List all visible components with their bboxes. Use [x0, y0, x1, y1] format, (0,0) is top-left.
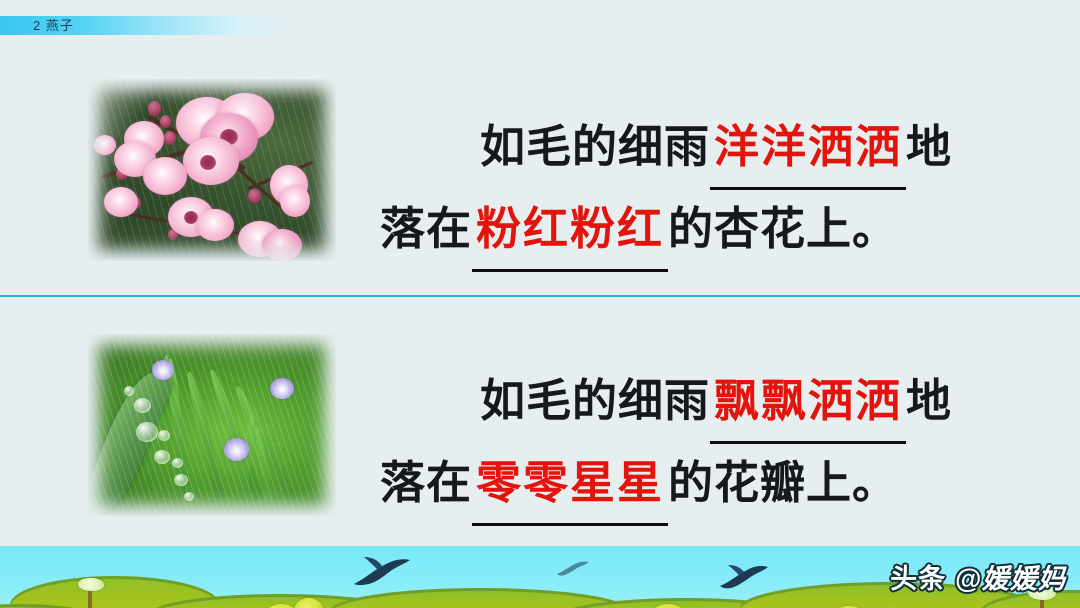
sentence-1-line-1-prefix: 如毛的细雨 — [480, 122, 710, 172]
sentence-1-line-2: 落在粉红粉红的杏花上。 — [380, 190, 1000, 272]
blossom — [104, 187, 138, 217]
sentence-2-line-2: 落在零零星星的花瓣上。 — [380, 444, 1000, 526]
answer-blank-3[interactable]: 飘飘洒洒 — [710, 362, 906, 444]
blossom — [196, 209, 234, 241]
sentence-1-line-1-suffix: 地 — [906, 122, 952, 172]
sentence-2-line-1: 如毛的细雨飘飘洒洒地 — [380, 362, 1000, 444]
watermark-handle: @媛媛妈 — [955, 564, 1066, 594]
sentence-2-line-2-prefix: 落在 — [380, 458, 472, 508]
sentence-2-line-1-prefix: 如毛的细雨 — [480, 376, 710, 426]
slide-canvas: 2 燕子 — [0, 0, 1080, 608]
blossom-center — [200, 155, 216, 170]
sentence-1-line-1: 如毛的细雨洋洋洒洒地 — [380, 108, 1000, 190]
photo-1-content — [88, 79, 336, 261]
watermark-prefix: 头条 — [890, 564, 955, 594]
flower-bud — [164, 131, 176, 145]
sentence-2-line-2-suffix: 的花瓣上。 — [668, 458, 898, 508]
photo-2-content — [88, 334, 336, 516]
sentence-2-line-1-suffix: 地 — [906, 376, 952, 426]
swallow-icon — [718, 564, 770, 592]
sentence-1-line-2-prefix: 落在 — [380, 204, 472, 254]
blossom — [280, 185, 310, 217]
footer-scenery-strip: 头条 @媛媛妈 — [0, 546, 1080, 608]
answer-blank-2[interactable]: 粉红粉红 — [472, 190, 668, 272]
blossom — [262, 229, 302, 261]
section-divider — [0, 295, 1080, 297]
photo-pink-apricot-blossoms — [88, 79, 336, 261]
swallow-icon — [352, 556, 414, 588]
swallow-icon — [556, 560, 590, 578]
watermark: 头条 @媛媛妈 — [890, 557, 1066, 596]
rain-streaks-overlay-2 — [88, 334, 336, 516]
answer-blank-4[interactable]: 零零星星 — [472, 444, 668, 526]
flower-bud — [248, 189, 261, 203]
blossom — [94, 135, 116, 155]
flower-bud — [160, 115, 171, 128]
answer-blank-1[interactable]: 洋洋洒洒 — [710, 108, 906, 190]
sentence-block-2: 如毛的细雨飘飘洒洒地 落在零零星星的花瓣上。 — [380, 362, 1000, 526]
tree-canopy — [78, 578, 104, 591]
photo-green-leaves-dewdrops — [88, 334, 336, 516]
blossom — [143, 157, 187, 195]
page-title: 2 燕子 — [33, 16, 74, 35]
sentence-1-line-2-suffix: 的杏花上。 — [668, 204, 898, 254]
flower-bud — [148, 101, 161, 116]
sentence-block-1: 如毛的细雨洋洋洒洒地 落在粉红粉红的杏花上。 — [380, 108, 1000, 272]
